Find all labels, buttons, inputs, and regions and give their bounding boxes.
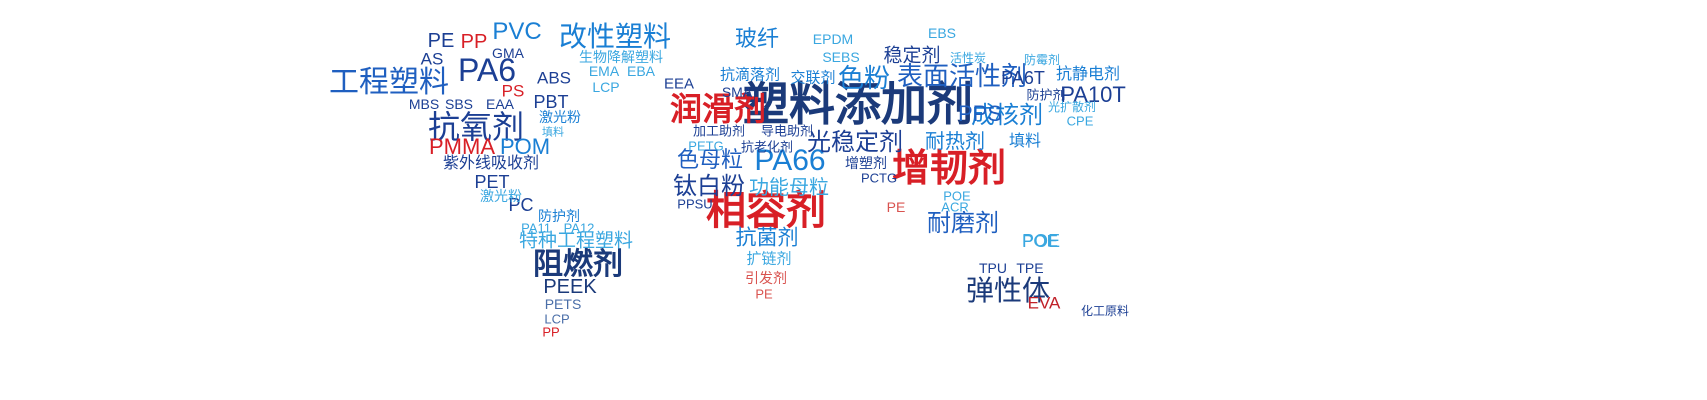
wordcloud-word[interactable]: EAA [486, 97, 514, 111]
wordcloud-word[interactable]: PETG [688, 140, 723, 153]
wordcloud-word[interactable]: ABS [537, 70, 571, 87]
wordcloud-word[interactable]: 稳定剂 [883, 47, 940, 66]
wordcloud-word[interactable]: POE [1022, 233, 1058, 250]
wordcloud-word[interactable]: 加工助剂 [693, 125, 745, 138]
wordcloud-word[interactable]: PVC [492, 20, 541, 44]
wordcloud-word[interactable]: TPU [979, 261, 1007, 275]
wordcloud-word[interactable]: PA12 [564, 222, 595, 235]
wordcloud-word[interactable]: CPE [1067, 115, 1094, 128]
wordcloud-word[interactable]: PA6T [1001, 69, 1045, 87]
wordcloud-word[interactable]: 填料 [542, 128, 564, 139]
wordcloud-word[interactable]: EBA [627, 64, 655, 78]
wordcloud-word[interactable]: LCP [592, 80, 619, 94]
wordcloud-word[interactable]: 导电助剂 [761, 125, 813, 138]
wordcloud-word[interactable]: PPS [958, 103, 1002, 125]
wordcloud-word[interactable]: 功能母粒 [749, 178, 829, 198]
wordcloud-word[interactable]: PE [887, 200, 906, 214]
wordcloud-word[interactable]: EVA [1028, 295, 1061, 312]
wordcloud-word[interactable]: TPE [1016, 261, 1043, 275]
wordcloud-word[interactable]: AS [421, 51, 444, 68]
wordcloud-word[interactable]: 扩链剂 [746, 252, 791, 267]
wordcloud-word[interactable]: 抗老化剂 [741, 141, 793, 154]
wordcloud-word[interactable]: ACR [941, 201, 968, 214]
wordcloud-word[interactable]: SEBS [822, 50, 859, 64]
wordcloud-word[interactable]: MBS [409, 97, 439, 111]
wordcloud-word[interactable]: 激光粉 [480, 189, 522, 203]
wordcloud-word[interactable]: 防霉剂 [1024, 54, 1060, 66]
wordcloud-word[interactable]: 抗菌剂 [736, 228, 799, 249]
wordcloud-word[interactable]: 色粉 [838, 65, 890, 91]
wordcloud-word[interactable]: 钛白粉 [673, 175, 745, 199]
wordcloud-word[interactable]: 光扩散剂 [1048, 101, 1096, 113]
wordcloud-word[interactable]: 改性塑料 [559, 23, 671, 51]
wordcloud-word[interactable]: PCTG [861, 172, 897, 185]
wordcloud-word[interactable]: EPDM [813, 32, 853, 46]
wordcloud-word[interactable]: PE [755, 288, 772, 301]
wordcloud-word[interactable]: EEA [664, 77, 694, 92]
wordcloud-word[interactable]: 生物降解塑料 [579, 50, 663, 64]
wordcloud-word[interactable]: EBS [928, 26, 956, 40]
wordcloud-word[interactable]: 激光粉 [539, 110, 581, 124]
wordcloud-word[interactable]: 增韧剂 [892, 150, 1006, 188]
wordcloud-word[interactable]: 光稳定剂 [807, 131, 903, 155]
wordcloud-word[interactable]: PP [461, 32, 488, 52]
wordcloud-canvas: 塑料添加剂相容剂增韧剂润滑剂工程塑料抗氧剂阻燃剂改性塑料表面活性剂PA6PA66… [0, 0, 1707, 400]
wordcloud-word[interactable]: 耐热剂 [925, 132, 985, 152]
wordcloud-word[interactable]: PE [428, 31, 455, 51]
wordcloud-word[interactable]: 玻纤 [735, 28, 779, 50]
wordcloud-word[interactable]: 增塑剂 [845, 156, 887, 170]
wordcloud-word[interactable]: SBS [445, 97, 473, 111]
wordcloud-word[interactable]: 紫外线吸收剂 [443, 156, 539, 172]
wordcloud-word[interactable]: PETS [545, 297, 582, 311]
wordcloud-word[interactable]: 填料 [1009, 134, 1041, 150]
wordcloud-word[interactable]: EMA [589, 64, 619, 78]
wordcloud-word[interactable]: 引发剂 [745, 271, 787, 285]
wordcloud-word[interactable]: 交联剂 [790, 71, 835, 86]
wordcloud-word[interactable]: PP [542, 326, 559, 339]
wordcloud-word[interactable]: 活性炭 [950, 52, 986, 64]
wordcloud-word[interactable]: PA11 [521, 222, 551, 235]
wordcloud-word[interactable]: 抗静电剂 [1056, 67, 1120, 83]
wordcloud-word[interactable]: 化工原料 [1081, 305, 1129, 317]
wordcloud-word[interactable]: 工程塑料 [329, 68, 449, 98]
wordcloud-word[interactable]: PEEK [543, 277, 596, 297]
wordcloud-word[interactable]: 抗滴落剂 [720, 68, 780, 83]
wordcloud-word[interactable]: SMA [722, 85, 752, 99]
wordcloud-word[interactable]: PPSU [677, 198, 712, 211]
wordcloud-word[interactable]: GMA [492, 46, 524, 60]
wordcloud-word[interactable]: 耐磨剂 [927, 212, 999, 236]
